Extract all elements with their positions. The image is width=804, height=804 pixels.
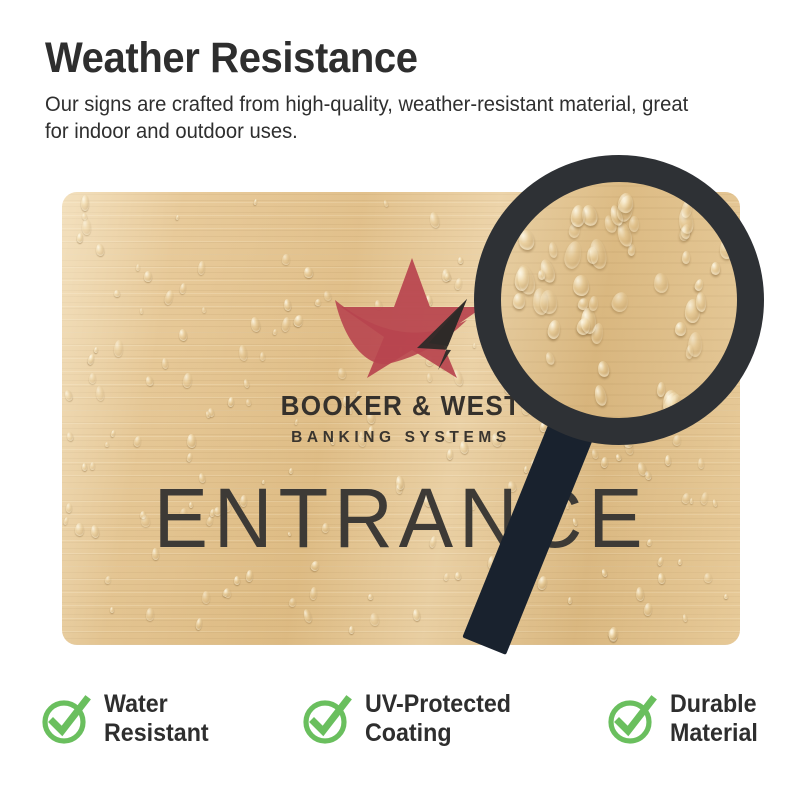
feature-label: UV-Protected Coating	[365, 690, 511, 748]
star-swoosh-logo-icon	[317, 254, 507, 379]
feature-item-uv-protected-coating: UV-Protected Coating	[301, 690, 522, 748]
page-title: Weather Resistance	[45, 34, 650, 82]
product-feature-graphic: Weather Resistance Our signs are crafted…	[0, 0, 804, 804]
check-circle-icon	[606, 694, 658, 746]
sign-brand-tagline: BANKING SYSTEMS	[62, 429, 740, 447]
feature-item-water-resistant: Water Resistant	[40, 690, 217, 748]
sign-main-text: ENTRANCE	[72, 473, 730, 563]
check-circle-icon	[40, 694, 92, 746]
sign-board: BOOKER & WEST BANKING SYSTEMS ENTRANCE	[62, 192, 740, 645]
page-subtitle: Our signs are crafted from high-quality,…	[45, 91, 694, 145]
feature-label: Water Resistant	[104, 690, 209, 748]
sign-brand-name: BOOKER & WEST	[79, 390, 723, 422]
feature-badge-list: Water Resistant UV-Protected Coating Dur…	[40, 690, 764, 748]
water-droplets-layer	[62, 192, 740, 645]
feature-label: Durable Material	[670, 690, 758, 748]
header-block: Weather Resistance Our signs are crafted…	[45, 34, 695, 145]
check-circle-icon	[301, 694, 353, 746]
sign-logo-group: BOOKER & WEST BANKING SYSTEMS ENTRANCE	[62, 192, 740, 645]
feature-item-durable-material: Durable Material	[606, 690, 764, 748]
